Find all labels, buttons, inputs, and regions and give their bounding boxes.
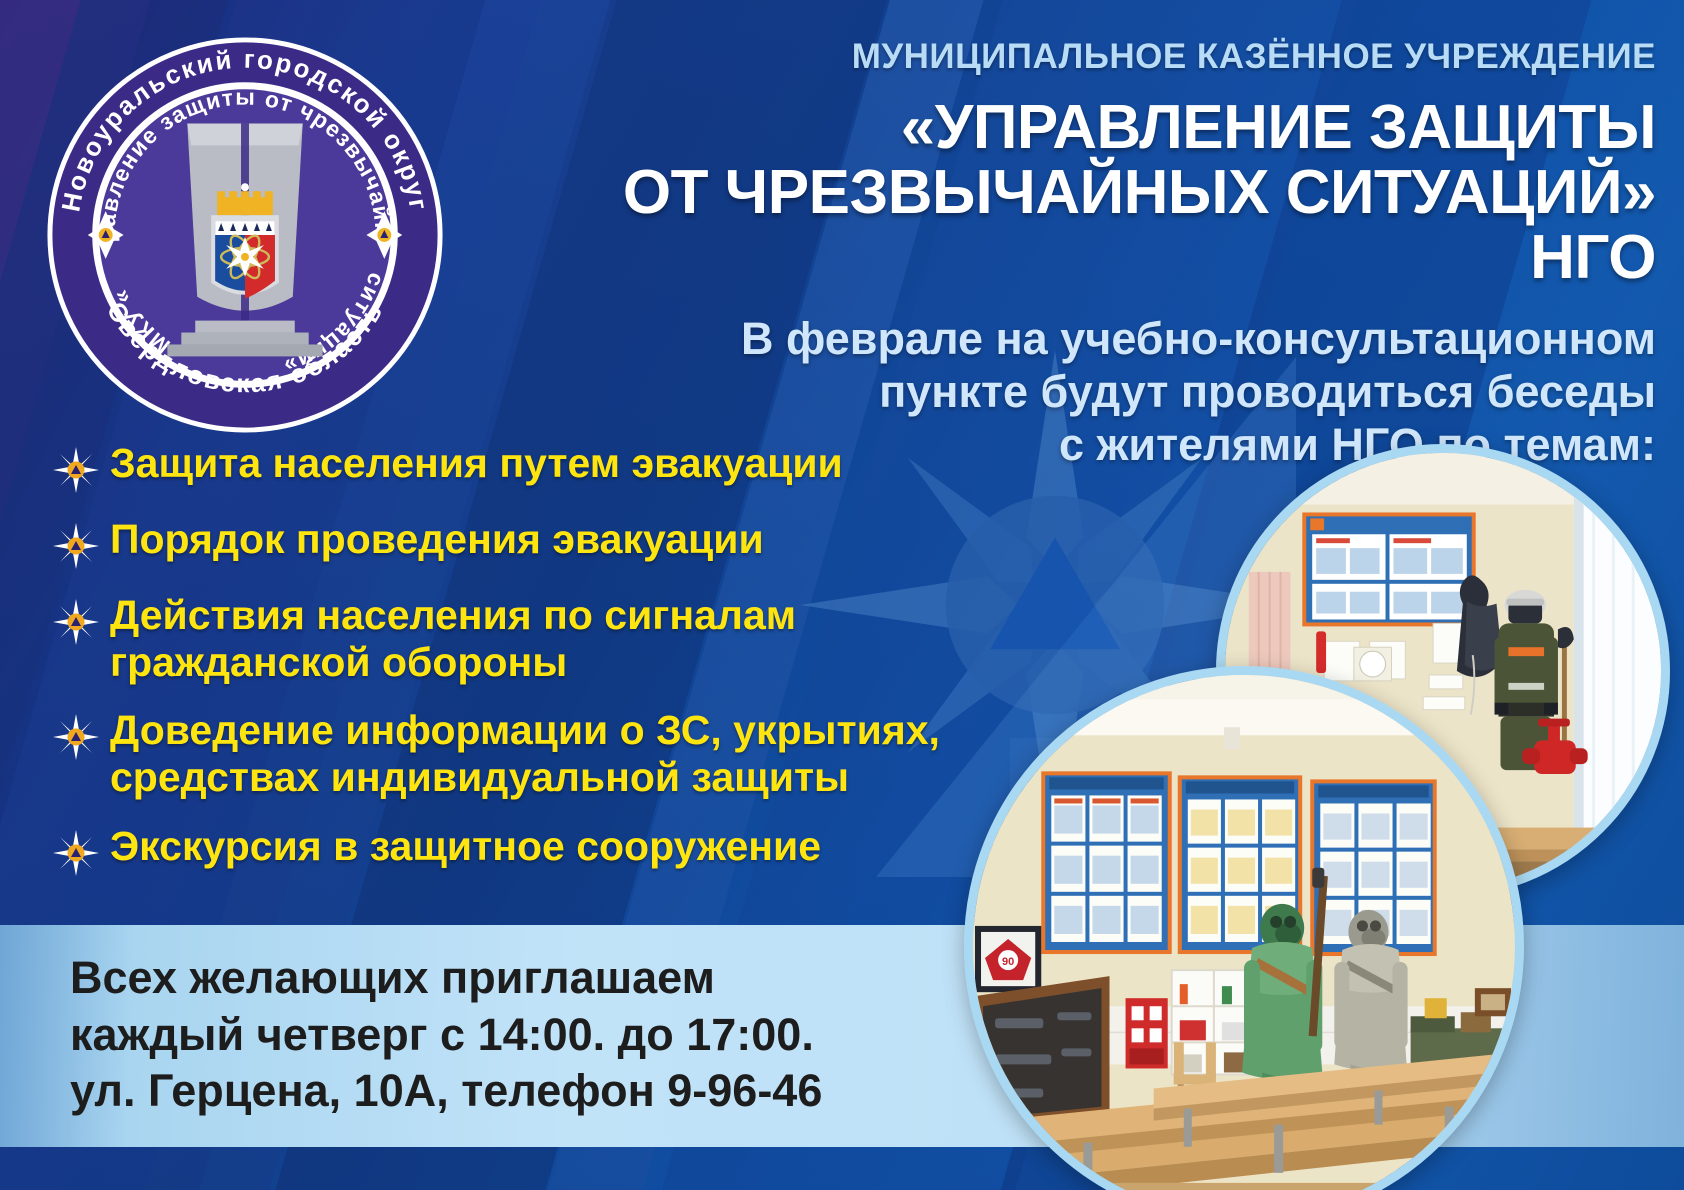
list-item-label: Порядок проведения эвакуации [110, 516, 764, 563]
mchs-star-icon [52, 713, 100, 761]
header-block: МУНИЦИПАЛЬНОЕ КАЗЁННОЕ УЧРЕЖДЕНИЕ «УПРАВ… [556, 38, 1656, 471]
topics-list: Защита населения путем эвакуации [52, 440, 1012, 899]
lede-line-1: В феврале на учебно-консультационном [556, 312, 1656, 365]
contact-line-schedule: каждый четверг с 14:00. до 17:00. [70, 1007, 822, 1064]
list-item: Порядок проведения эвакуации [52, 516, 1012, 570]
lede-line-2: пункте будут проводиться беседы [556, 365, 1656, 418]
page-title-line-2: ОТ ЧРЕЗВЫЧАЙНЫХ СИТУАЦИЙ» НГО [556, 160, 1656, 290]
mchs-star-icon [52, 522, 100, 570]
list-item: Доведение информации о ЗС, укрытиях, сре… [52, 707, 1012, 800]
list-item-label: Доведение информации о ЗС, укрытиях, сре… [110, 707, 1012, 800]
list-item-label: Экскурсия в защитное сооружение [110, 823, 821, 870]
page-title-line-1: «УПРАВЛЕНИЕ ЗАЩИТЫ [901, 93, 1656, 162]
list-item: Действия населения по сигналам гражданск… [52, 592, 1012, 685]
contact-block: Всех желающих приглашаем каждый четверг … [70, 950, 822, 1120]
page-title: «УПРАВЛЕНИЕ ЗАЩИТЫ ОТ ЧРЕЗВЫЧАЙНЫХ СИТУА… [556, 95, 1656, 290]
contact-line-address-phone: ул. Герцена, 10А, телефон 9-96-46 [70, 1063, 822, 1120]
mchs-star-icon [52, 829, 100, 877]
organization-emblem: Новоуральский городской округ Свердловск… [36, 26, 454, 444]
mchs-star-icon [52, 598, 100, 646]
list-item-label: Действия населения по сигналам гражданск… [110, 592, 1012, 685]
poster-root: Новоуральский городской округ Свердловск… [0, 0, 1684, 1190]
institution-type-label: МУНИЦИПАЛЬНОЕ КАЗЁННОЕ УЧРЕЖДЕНИЕ [556, 38, 1656, 77]
mchs-star-icon [52, 446, 100, 494]
list-item: Защита населения путем эвакуации [52, 440, 1012, 494]
list-item: Экскурсия в защитное сооружение [52, 823, 1012, 877]
list-item-label: Защита населения путем эвакуации [110, 440, 843, 487]
contact-line-invitation: Всех желающих приглашаем [70, 950, 822, 1007]
svg-text:90: 90 [1002, 956, 1014, 968]
